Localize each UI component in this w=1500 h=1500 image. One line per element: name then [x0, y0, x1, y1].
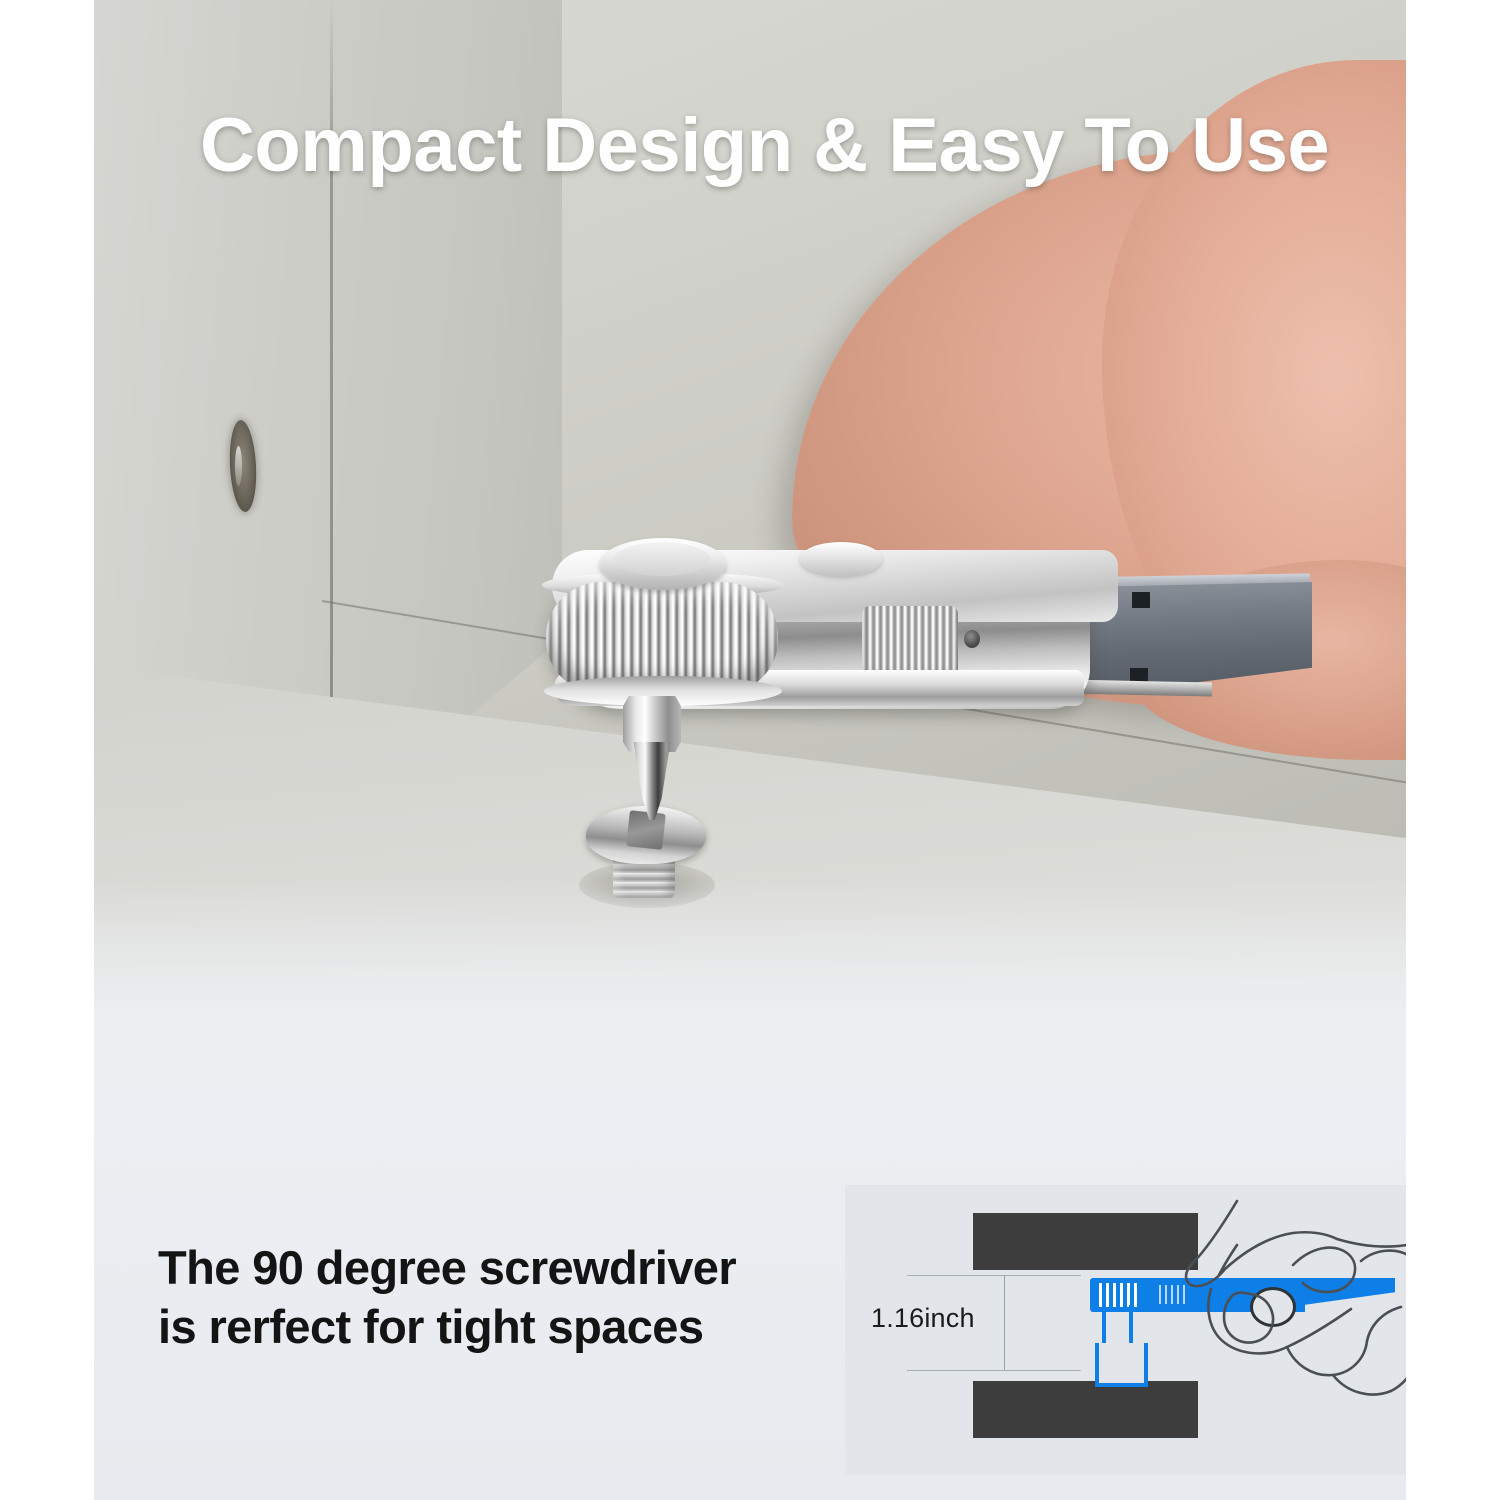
ratchet-screwdriver — [532, 520, 1212, 850]
product-infographic: Compact Design & Easy To Use The 90 degr… — [0, 0, 1500, 1500]
dimension-line-top — [907, 1275, 1081, 1276]
phillips-bit-tip — [630, 742, 674, 820]
pivot-pin — [964, 630, 980, 648]
dimension-tick — [1004, 1275, 1005, 1371]
diagram-bit-tip — [1095, 1343, 1148, 1387]
diagram-slab-top — [973, 1213, 1198, 1270]
hand-outline-icon — [1175, 1187, 1410, 1473]
clearance-diagram: 1.16inch — [845, 1185, 1410, 1475]
diagram-tool-knurl-primary — [1099, 1283, 1141, 1307]
right-margin — [1406, 0, 1500, 1500]
left-margin — [0, 0, 94, 1500]
subheading: The 90 degree screwdriver is rerfect for… — [158, 1238, 858, 1356]
photo-bottom-fade — [92, 880, 1408, 1030]
subheading-line-1: The 90 degree screwdriver — [158, 1238, 858, 1297]
predrilled-hole-highlight — [235, 446, 242, 486]
subheading-line-2: is rerfect for tight spaces — [158, 1297, 858, 1356]
diagram-bit-stem-right — [1129, 1305, 1133, 1347]
dimension-label: 1.16inch — [871, 1303, 975, 1334]
direction-switch-button — [800, 542, 882, 576]
handle-notch-upper — [1132, 592, 1150, 608]
diagram-bit-stem-left — [1102, 1305, 1106, 1347]
page-title: Compact Design & Easy To Use — [200, 108, 1340, 184]
dimension-line-bottom — [907, 1370, 1081, 1371]
release-button-inner — [614, 541, 710, 576]
diagram-slab-bottom — [973, 1381, 1198, 1438]
